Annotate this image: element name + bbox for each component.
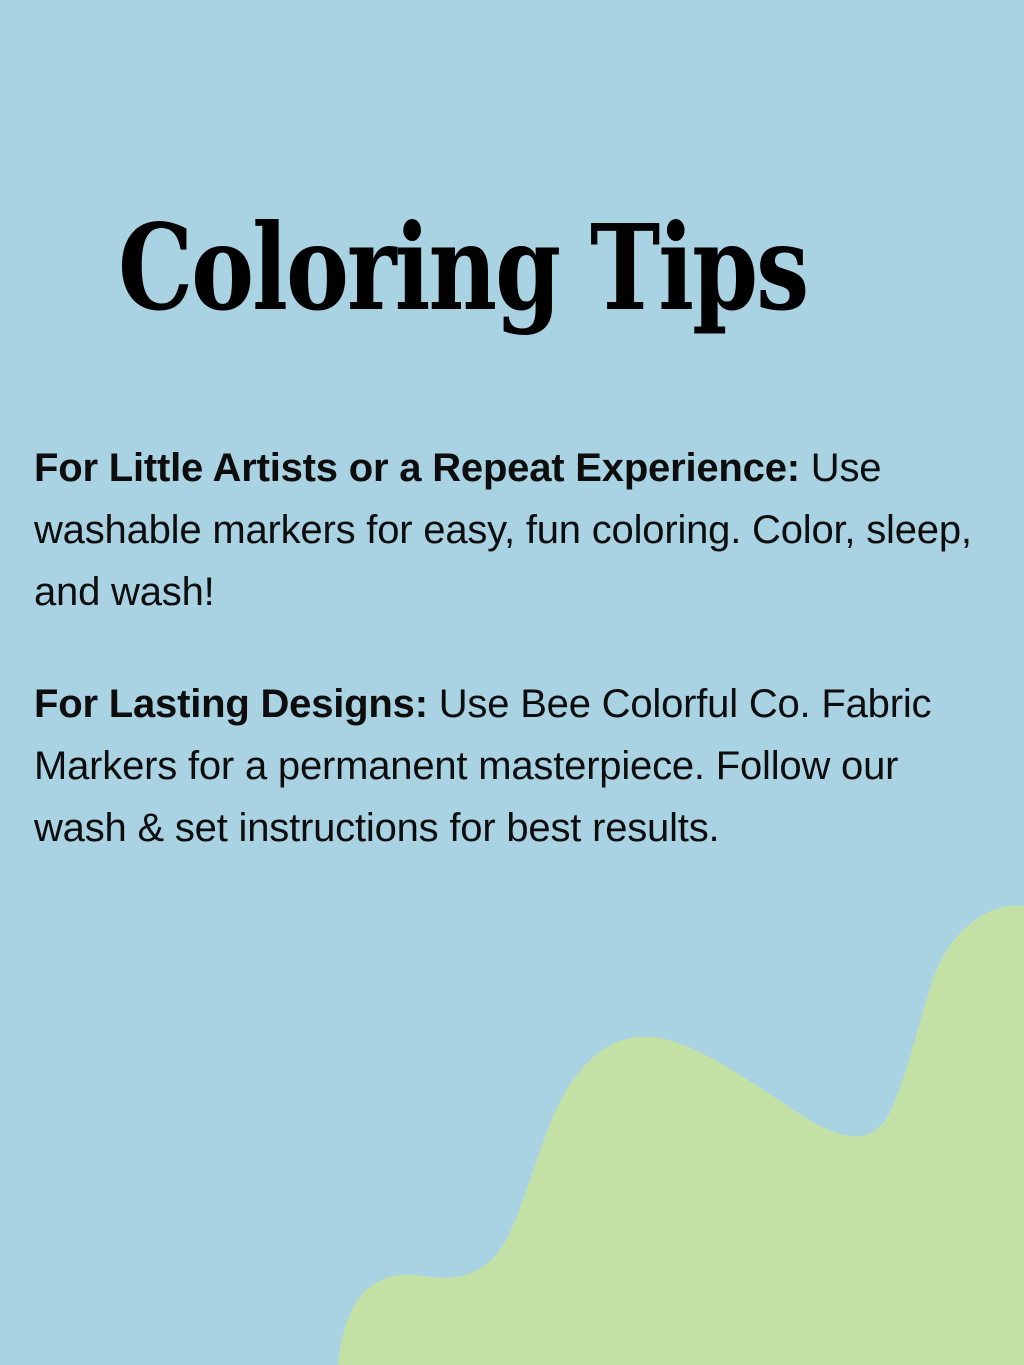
poster-content: Coloring Tips For Little Artists or a Re… — [0, 0, 1024, 1365]
tip-lead-label: For Lasting Designs: — [34, 682, 428, 726]
tip-item: For Lasting Designs: Use Bee Colorful Co… — [34, 673, 934, 859]
tip-item: For Little Artists or a Repeat Experienc… — [34, 437, 996, 623]
tips-list: For Little Artists or a Repeat Experienc… — [34, 437, 1002, 859]
page-title: Coloring Tips — [118, 209, 807, 327]
tip-lead-label: For Little Artists or a Repeat Experienc… — [34, 446, 800, 490]
coloring-tips-poster: Coloring Tips For Little Artists or a Re… — [0, 0, 1024, 1365]
